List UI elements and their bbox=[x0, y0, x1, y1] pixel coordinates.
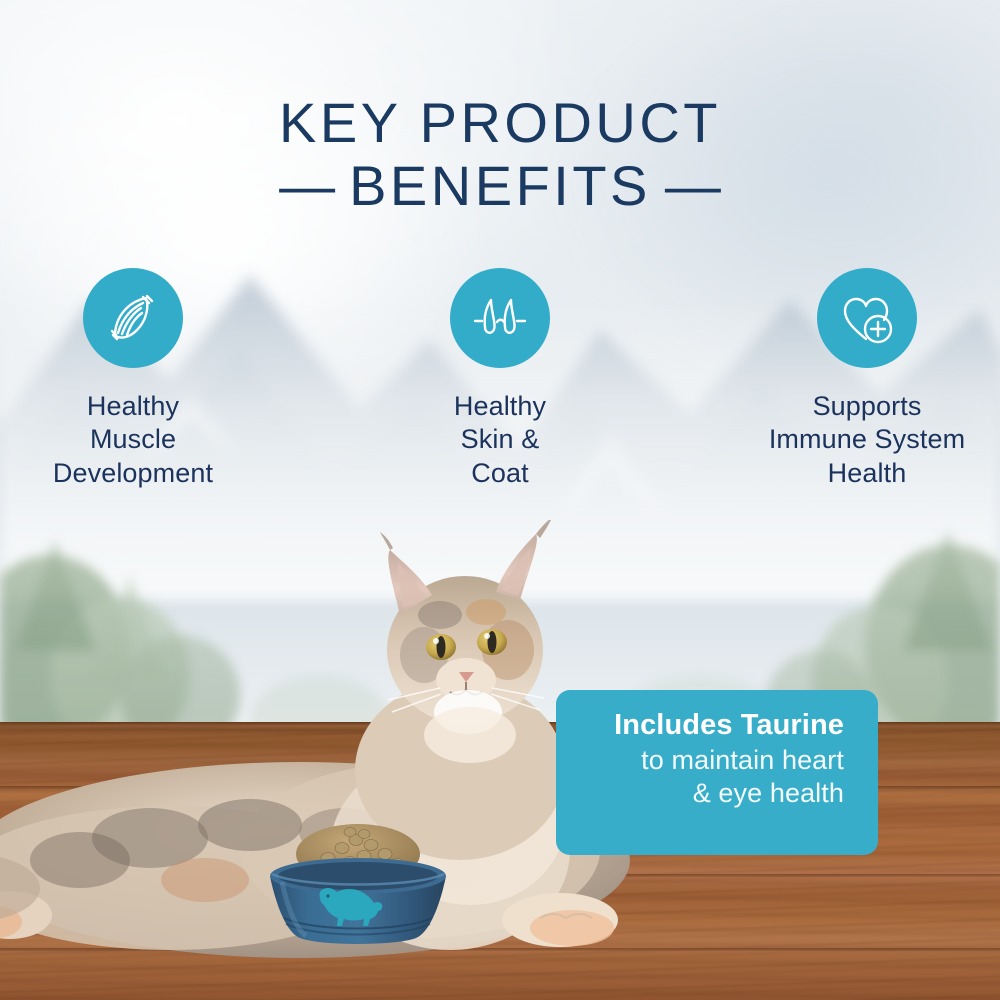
title-benefits-word: BENEFITS bbox=[349, 154, 651, 217]
title-line-one: KEY PRODUCT bbox=[0, 92, 1000, 155]
benefit-item-muscle: Healthy Muscle Development bbox=[26, 268, 241, 490]
callout-heading: Includes Taurine bbox=[576, 708, 844, 742]
benefit-label: Supports Immune System Health bbox=[760, 390, 975, 490]
title-dash-right: — bbox=[651, 154, 735, 217]
muscle-fiber-icon bbox=[102, 287, 164, 349]
page-title: KEY PRODUCT —BENEFITS— bbox=[0, 92, 1000, 217]
heart-plus-icon bbox=[836, 287, 898, 349]
benefit-icon-badge bbox=[83, 268, 183, 368]
title-dash-left: — bbox=[265, 154, 349, 217]
taurine-callout: Includes Taurine to maintain heart & eye… bbox=[556, 690, 878, 855]
benefit-item-immune: Supports Immune System Health bbox=[760, 268, 975, 490]
callout-subtext: to maintain heart & eye health bbox=[576, 744, 844, 810]
benefit-label: Healthy Skin & Coat bbox=[393, 390, 608, 490]
title-line-two: —BENEFITS— bbox=[0, 155, 1000, 218]
hair-follicle-icon bbox=[469, 287, 531, 349]
benefit-icon-badge bbox=[817, 268, 917, 368]
benefit-item-skin-coat: Healthy Skin & Coat bbox=[393, 268, 608, 490]
key-product-benefits-poster: KEY PRODUCT —BENEFITS— bbox=[0, 0, 1000, 1000]
benefits-row: Healthy Muscle Development Healthy Skin … bbox=[0, 268, 1000, 490]
benefit-label: Healthy Muscle Development bbox=[26, 390, 241, 490]
blue-pet-food-bowl bbox=[258, 818, 458, 948]
benefit-icon-badge bbox=[450, 268, 550, 368]
